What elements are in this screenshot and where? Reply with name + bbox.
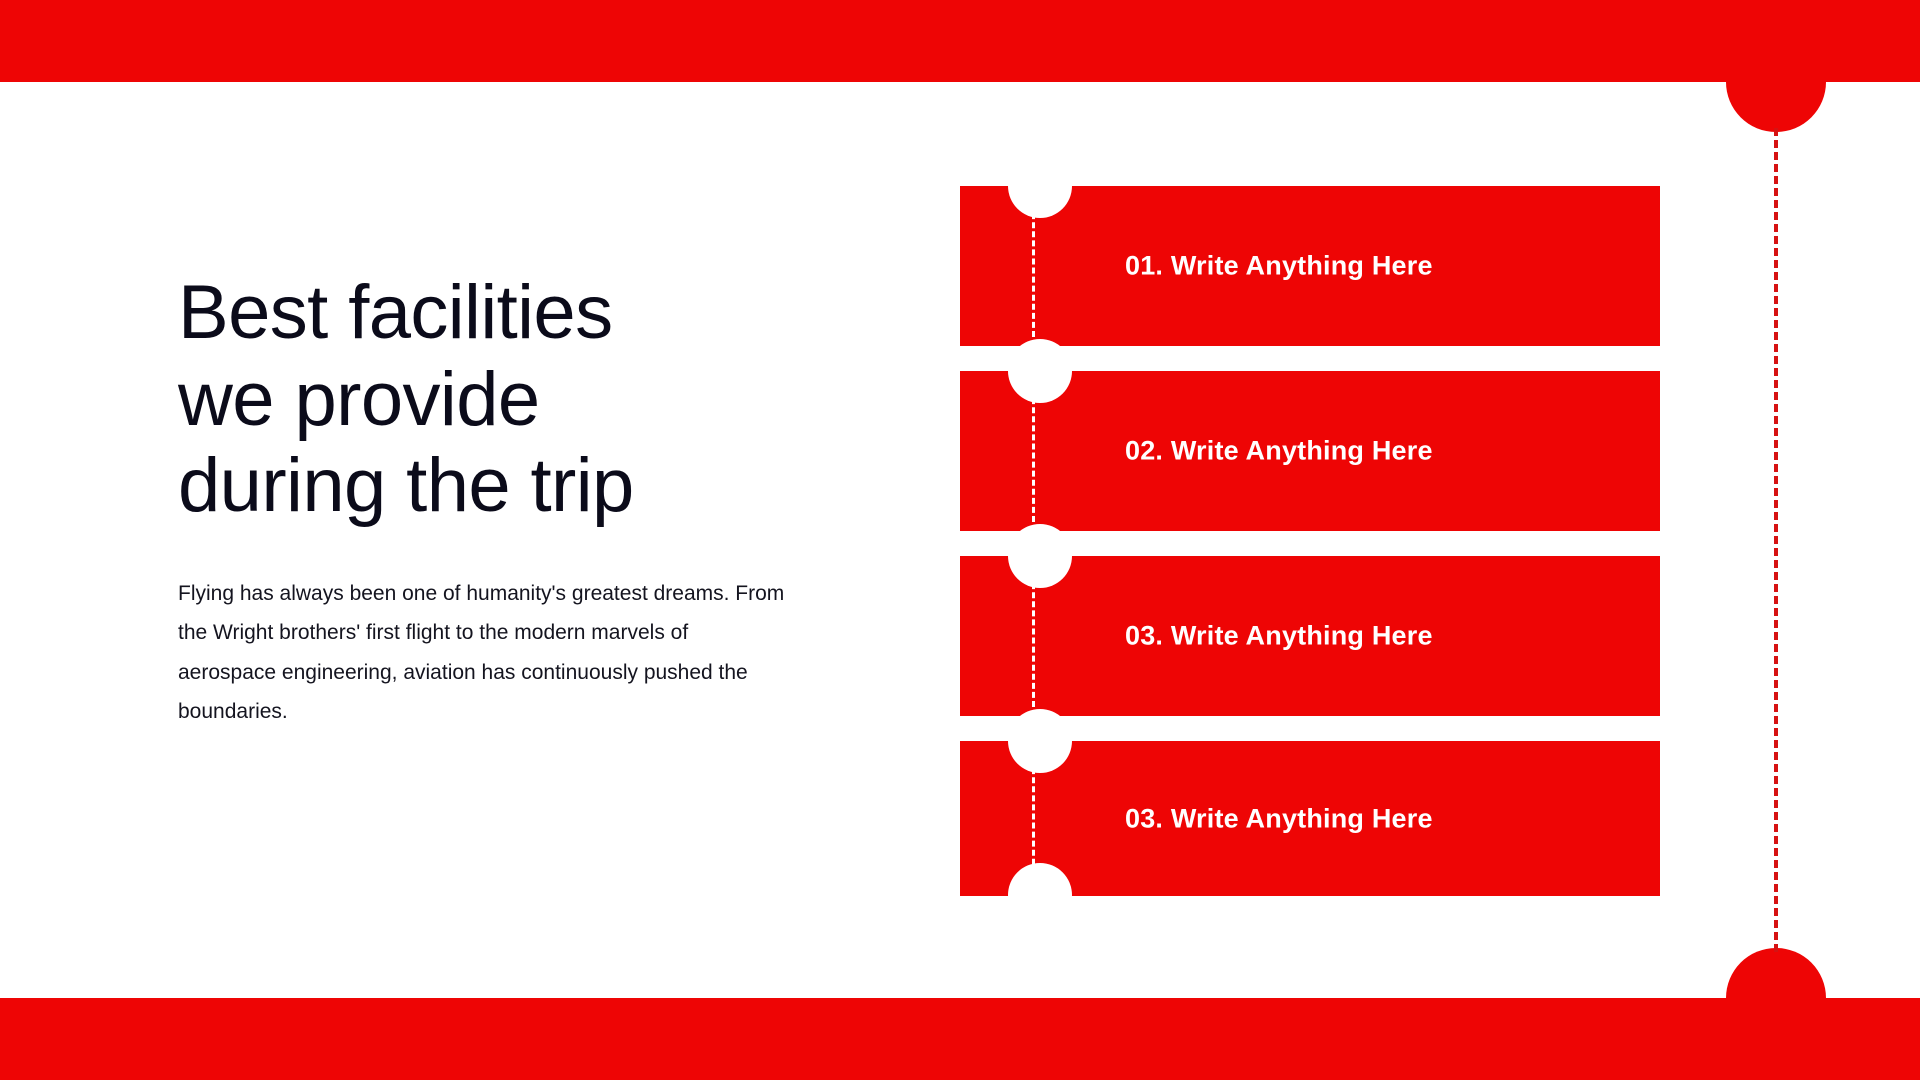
card-notch-circle-icon — [1008, 863, 1072, 927]
top-red-band — [0, 0, 1920, 82]
bottom-red-band — [0, 998, 1920, 1080]
card-notch-circle-icon — [1008, 524, 1072, 588]
facility-card-label: 03. Write Anything Here — [1125, 803, 1433, 834]
facility-card-label: 03. Write Anything Here — [1125, 621, 1433, 652]
facility-card[interactable]: 03. Write Anything Here — [960, 556, 1660, 716]
card-notch-circle-icon — [1008, 154, 1072, 218]
facility-card[interactable]: 01. Write Anything Here — [960, 186, 1660, 346]
intro-paragraph: Flying has always been one of humanity's… — [178, 574, 790, 732]
card-notch-circle-icon — [1008, 339, 1072, 403]
slide-canvas: Best facilities we provide during the tr… — [0, 0, 1920, 1080]
page-title: Best facilities we provide during the tr… — [178, 270, 818, 530]
card-notch-circle-icon — [1008, 709, 1072, 773]
left-text-column: Best facilities we provide during the tr… — [178, 270, 818, 732]
facility-card[interactable]: 03. Write Anything Here — [960, 741, 1660, 896]
bottom-rail-knob-icon — [1726, 948, 1826, 1048]
facility-card-label: 01. Write Anything Here — [1125, 251, 1433, 282]
facility-card[interactable]: 02. Write Anything Here — [960, 371, 1660, 531]
right-dashed-rail — [1774, 128, 1778, 952]
top-rail-knob-icon — [1726, 32, 1826, 132]
facility-card-label: 02. Write Anything Here — [1125, 436, 1433, 467]
